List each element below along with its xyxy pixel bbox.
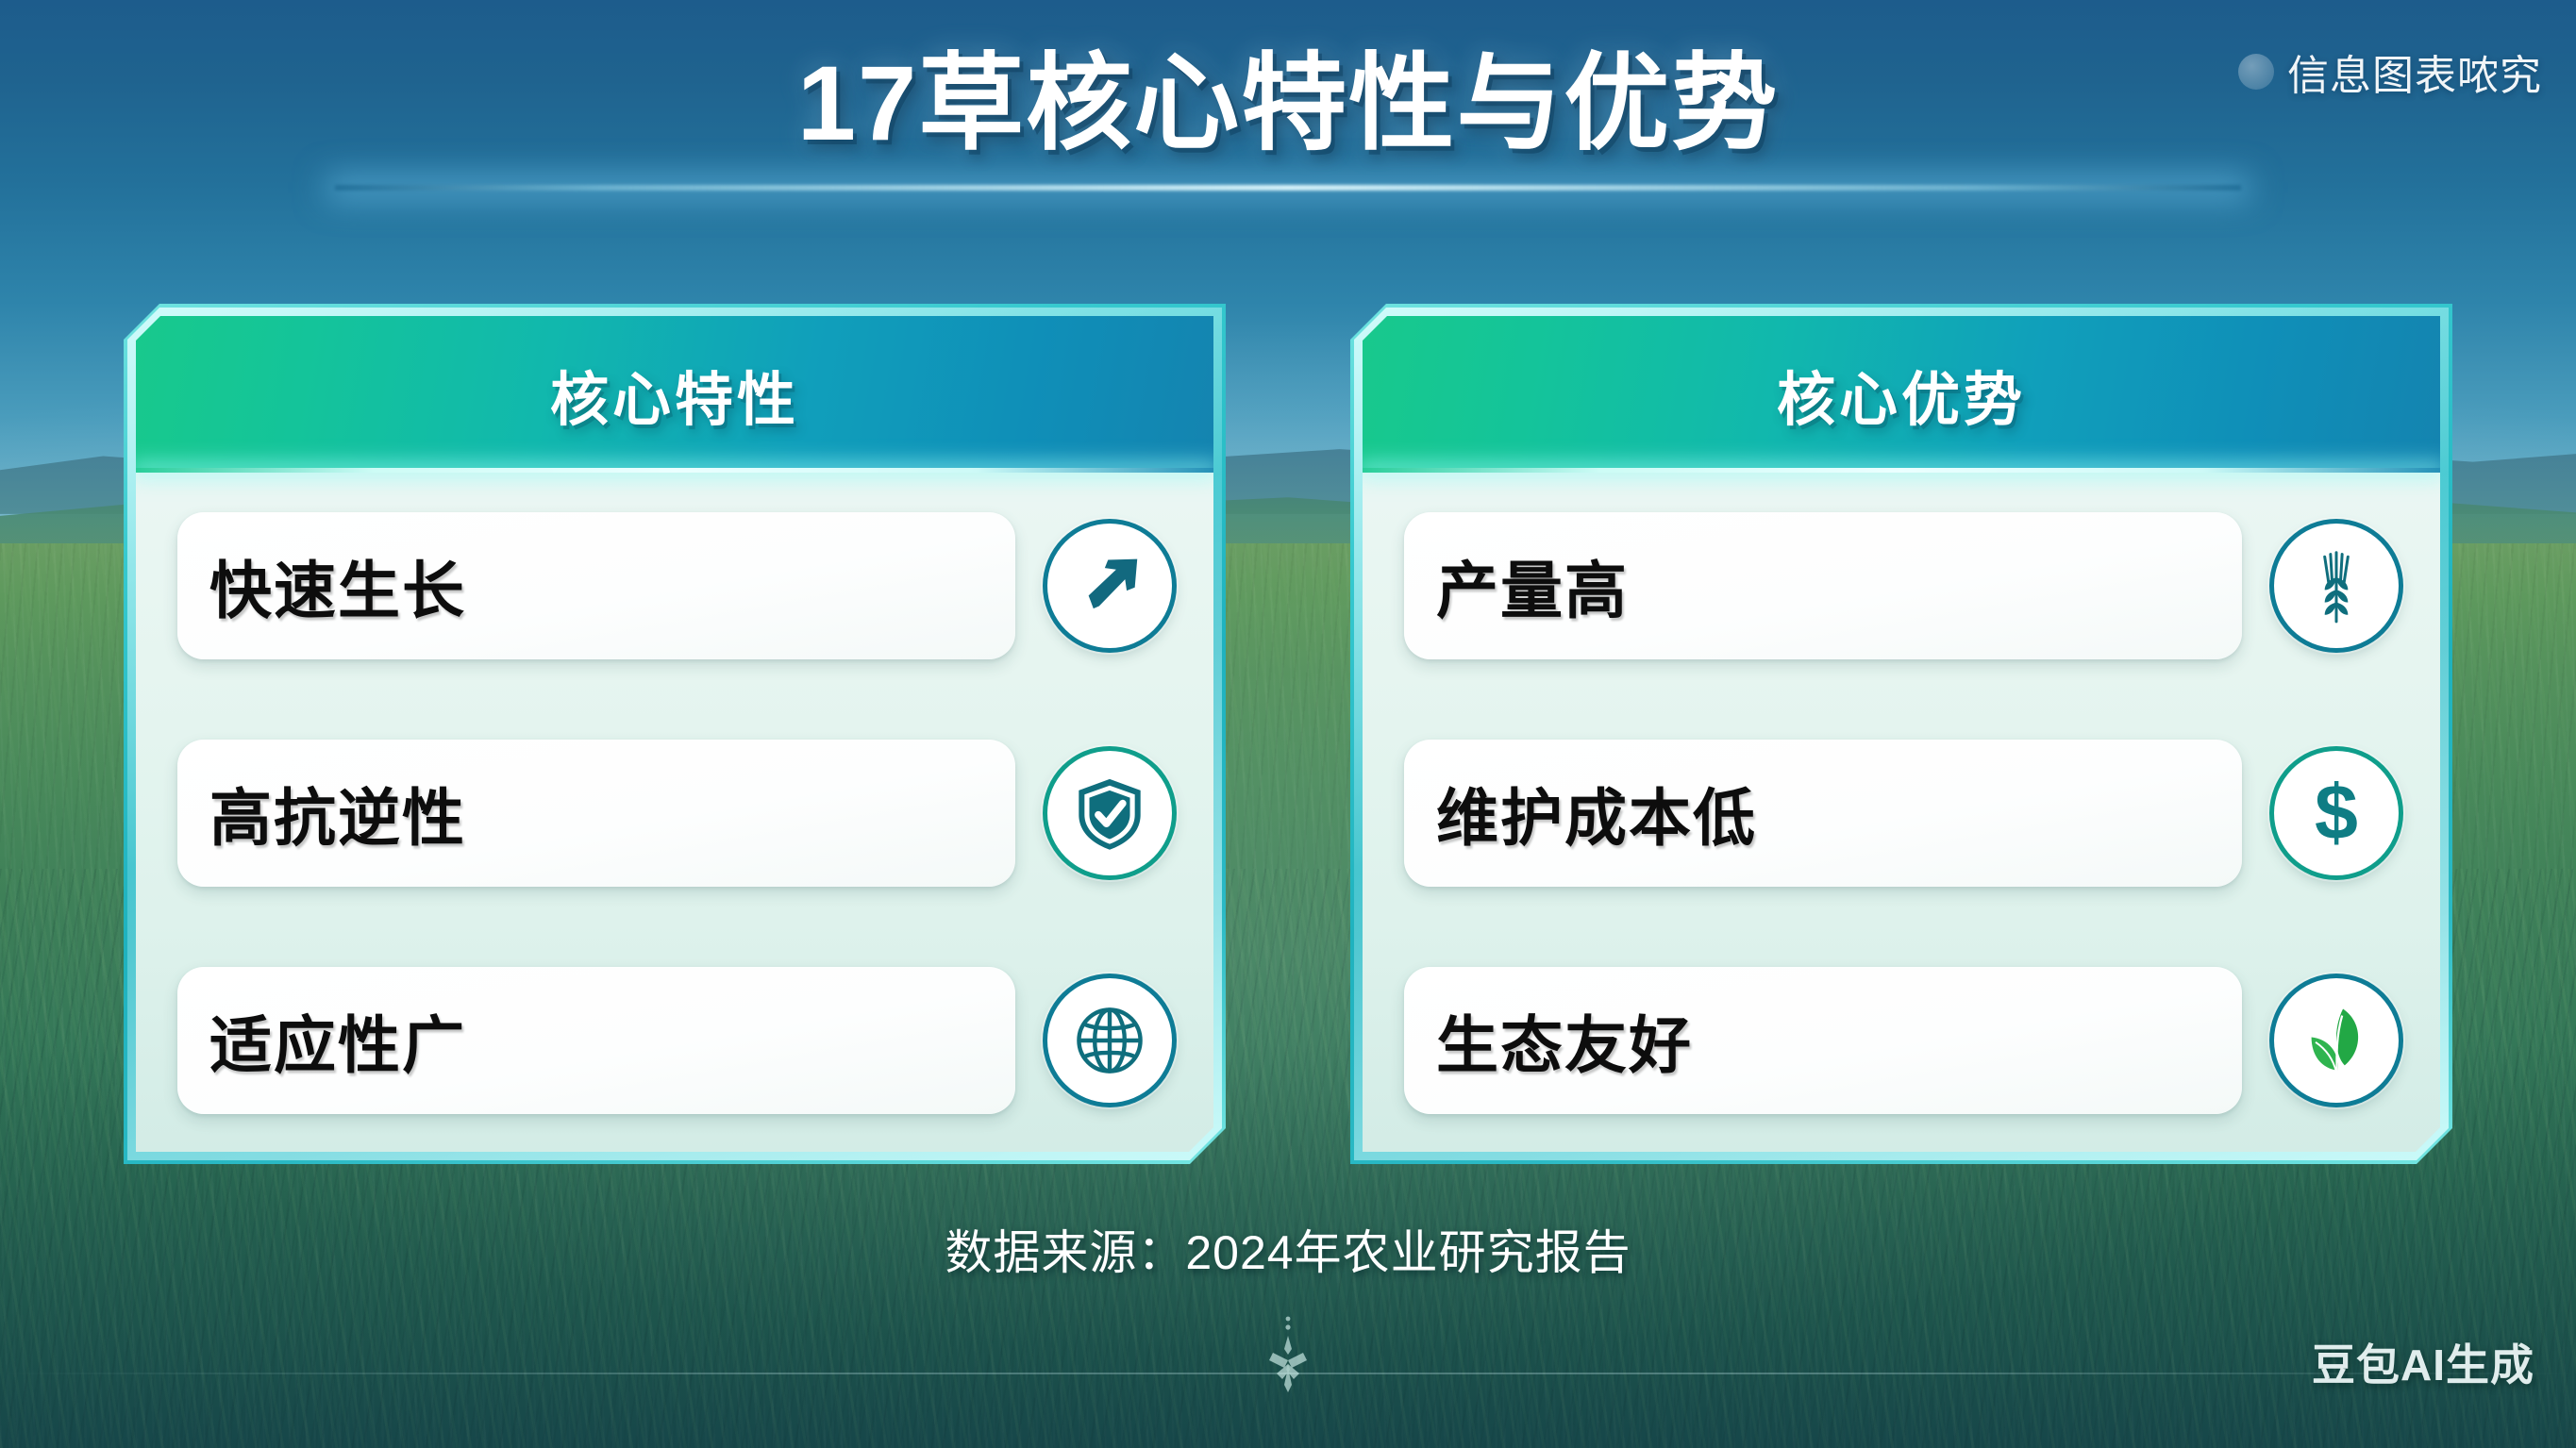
title-underline-glow bbox=[335, 185, 2241, 191]
advantage-label: 维护成本低 bbox=[1436, 768, 1757, 858]
card-inner: 核心优势 产量高 bbox=[1363, 316, 2440, 1152]
card-core-features: 核心特性 快速生长 高抗逆性 bbox=[124, 304, 1226, 1164]
leaf-icon bbox=[2274, 978, 2399, 1103]
card-core-advantages: 核心优势 产量高 bbox=[1350, 304, 2452, 1164]
feature-label: 适应性广 bbox=[209, 995, 466, 1086]
list-item[interactable]: 生态友好 bbox=[1404, 967, 2399, 1114]
advantage-label: 生态友好 bbox=[1436, 995, 1693, 1086]
list-item[interactable]: 快速生长 bbox=[177, 512, 1172, 659]
list-item[interactable]: 适应性广 bbox=[177, 967, 1172, 1114]
feature-label: 高抗逆性 bbox=[209, 768, 466, 858]
watermark-top: 信息图表哝究 bbox=[2238, 42, 2542, 102]
feature-pill[interactable]: 适应性广 bbox=[177, 967, 1015, 1114]
shield-check-icon bbox=[1047, 751, 1172, 875]
title-area: 17草核心特性与优势 bbox=[0, 42, 2576, 166]
watermark-dot-icon bbox=[2238, 54, 2274, 90]
source-note: 数据来源：2024年农业研究报告 bbox=[0, 1215, 2576, 1283]
card-header-left: 核心特性 bbox=[136, 316, 1213, 473]
advantage-pill[interactable]: 生态友好 bbox=[1404, 967, 2242, 1114]
card-body-right: 产量高 bbox=[1363, 473, 2440, 1152]
feature-pill[interactable]: 高抗逆性 bbox=[177, 740, 1015, 887]
card-inner: 核心特性 快速生长 高抗逆性 bbox=[136, 316, 1213, 1152]
advantage-label: 产量高 bbox=[1436, 541, 1629, 631]
card-body-left: 快速生长 高抗逆性 bbox=[136, 473, 1213, 1152]
card-title-left: 核心特性 bbox=[550, 352, 799, 437]
page-title: 17草核心特性与优势 bbox=[797, 42, 1780, 166]
feature-label: 快速生长 bbox=[209, 541, 466, 631]
watermark-bottom: 豆包AI生成 bbox=[2312, 1331, 2534, 1393]
card-title-right: 核心优势 bbox=[1777, 352, 2026, 437]
feature-pill[interactable]: 快速生长 bbox=[177, 512, 1015, 659]
cards-container: 核心特性 快速生长 高抗逆性 bbox=[0, 304, 2576, 1164]
card-header-right: 核心优势 bbox=[1363, 316, 2440, 473]
advantage-pill[interactable]: 维护成本低 bbox=[1404, 740, 2242, 887]
wheat-icon bbox=[2274, 524, 2399, 648]
sparkle-ornament-icon bbox=[1253, 1315, 1323, 1414]
dollar-icon: $ bbox=[2274, 751, 2399, 875]
arrow-up-right-icon bbox=[1047, 524, 1172, 648]
list-item[interactable]: 产量高 bbox=[1404, 512, 2399, 659]
list-item[interactable]: 高抗逆性 bbox=[177, 740, 1172, 887]
svg-text:$: $ bbox=[2315, 773, 2358, 854]
watermark-top-label: 信息图表哝究 bbox=[2287, 42, 2542, 102]
advantage-pill[interactable]: 产量高 bbox=[1404, 512, 2242, 659]
list-item[interactable]: 维护成本低 $ bbox=[1404, 740, 2399, 887]
globe-icon bbox=[1047, 978, 1172, 1103]
